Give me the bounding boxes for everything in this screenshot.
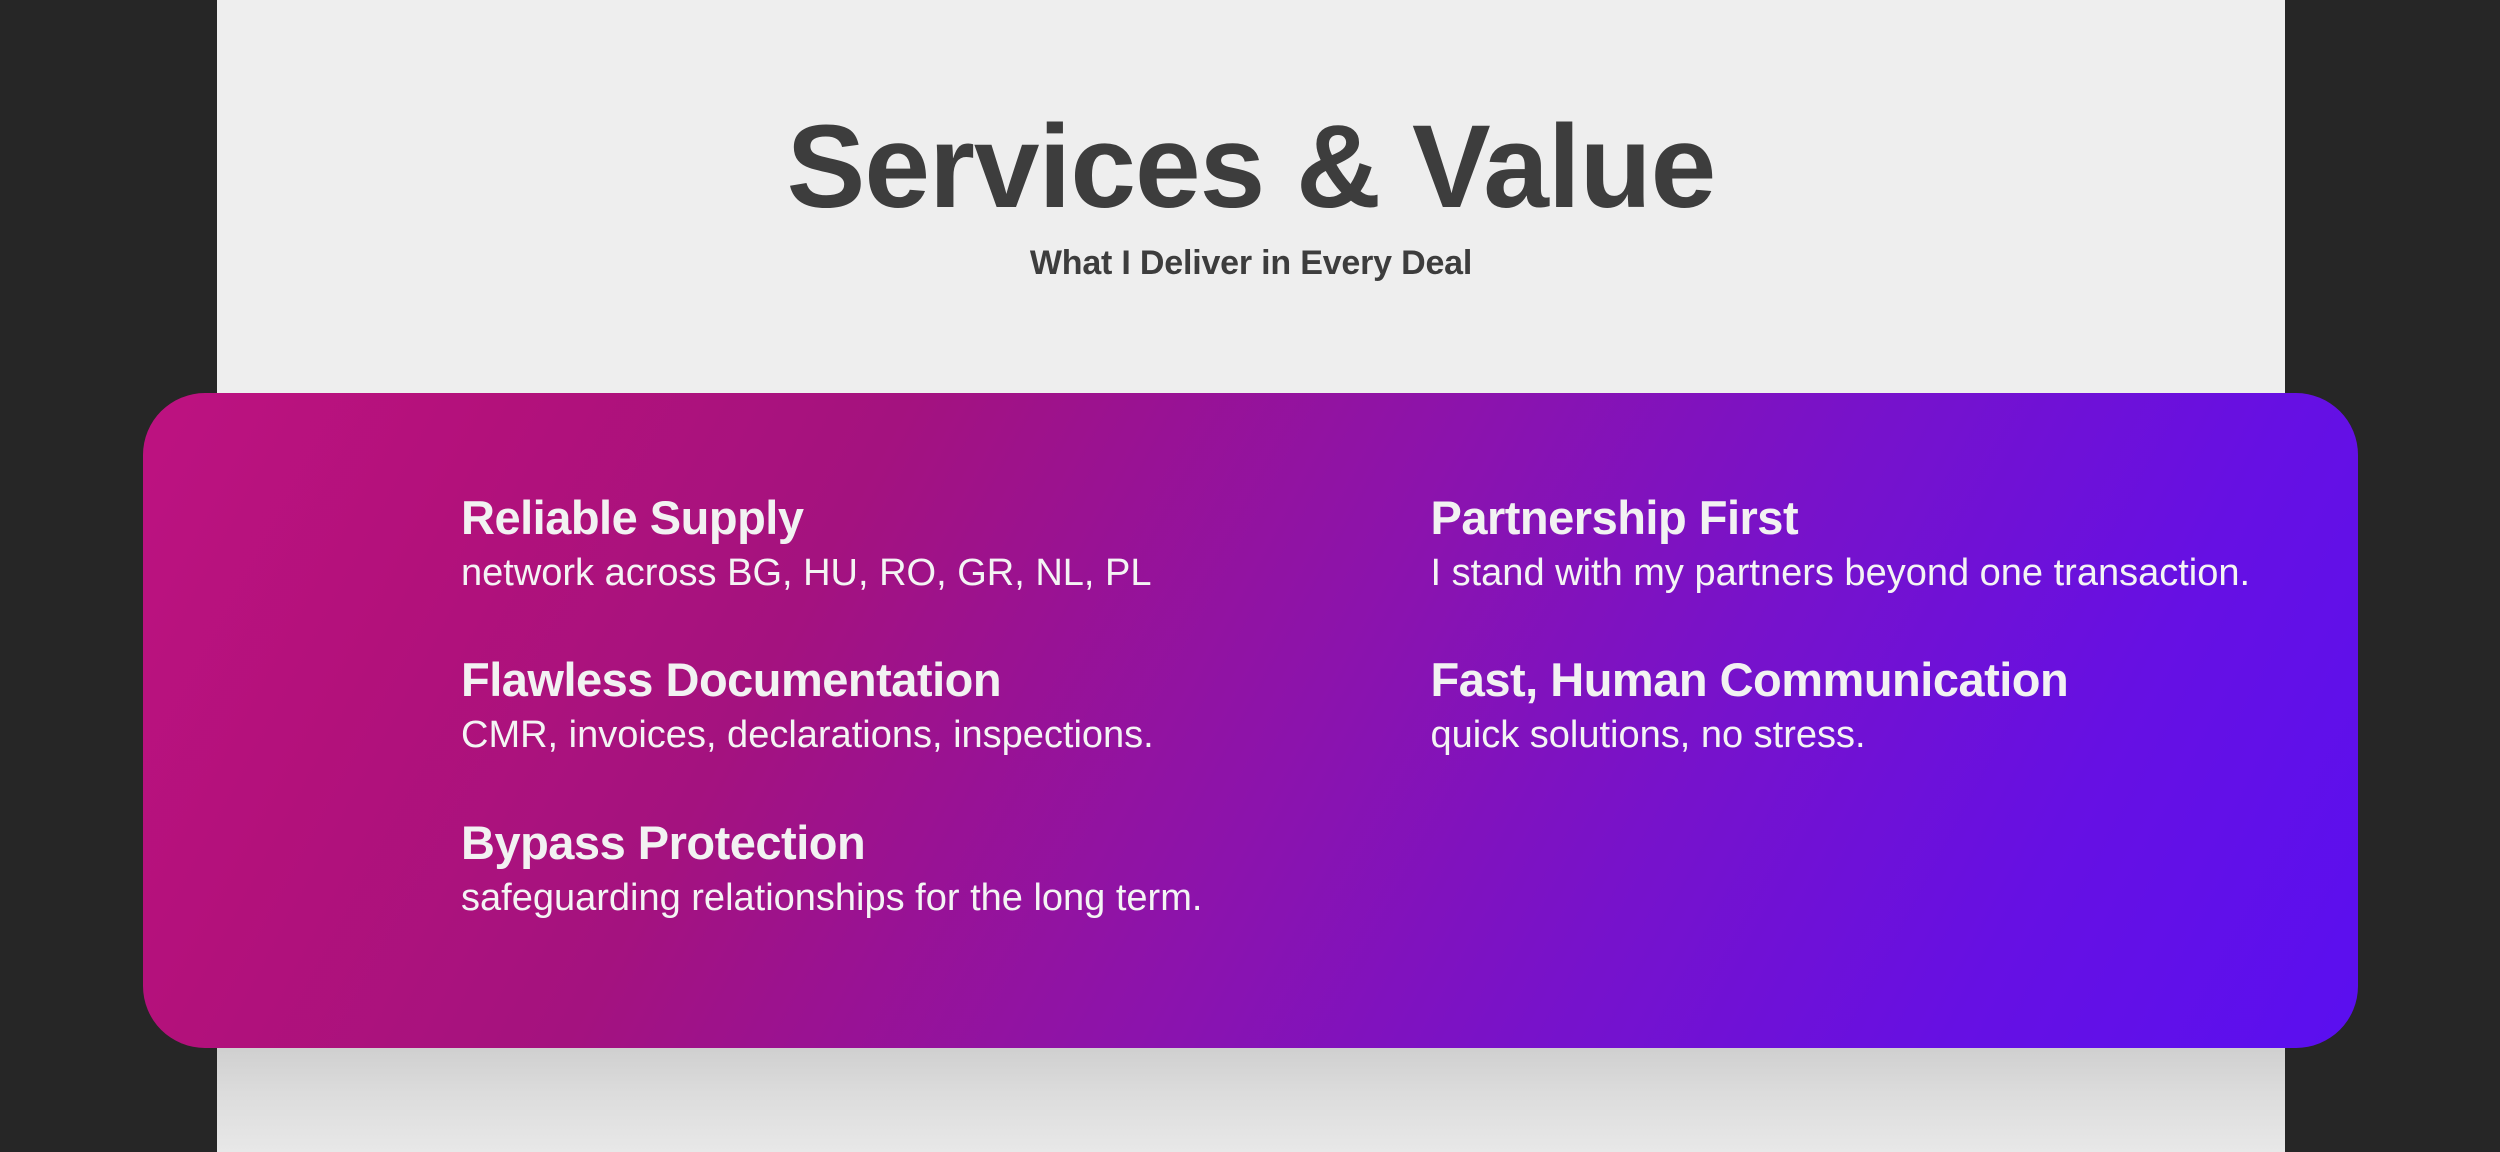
- value-item-description: I stand with my partners beyond one tran…: [1431, 544, 2269, 596]
- value-item-description: network across BG, HU, RO, GR, NL, PL: [461, 544, 1251, 596]
- slide-header: Services & Value What I Deliver in Every…: [217, 0, 2285, 283]
- value-column-left: Reliable Supply network across BG, HU, R…: [233, 463, 1251, 920]
- value-item: Flawless Documentation CMR, invoices, de…: [461, 655, 1251, 757]
- value-item: Fast, Human Communication quick solution…: [1431, 655, 2269, 757]
- value-item-description: safeguarding relationships for the long …: [461, 869, 1251, 921]
- value-item-description: quick solutions, no stress.: [1431, 706, 2269, 758]
- value-item-title: Reliable Supply: [461, 493, 1251, 544]
- value-item: Reliable Supply network across BG, HU, R…: [461, 493, 1251, 595]
- services-value-card: Reliable Supply network across BG, HU, R…: [143, 393, 2358, 1048]
- value-item-title: Fast, Human Communication: [1431, 655, 2269, 706]
- value-column-right: Partnership First I stand with my partne…: [1251, 463, 2269, 758]
- value-item-description: CMR, invoices, declarations, inspections…: [461, 706, 1251, 758]
- page-subtitle: What I Deliver in Every Deal: [217, 226, 2285, 283]
- value-item-title: Partnership First: [1431, 493, 2269, 544]
- value-item-title: Flawless Documentation: [461, 655, 1251, 706]
- value-item: Partnership First I stand with my partne…: [1431, 493, 2269, 595]
- value-item-title: Bypass Protection: [461, 818, 1251, 869]
- value-item: Bypass Protection safeguarding relations…: [461, 818, 1251, 920]
- page-title: Services & Value: [217, 0, 2285, 226]
